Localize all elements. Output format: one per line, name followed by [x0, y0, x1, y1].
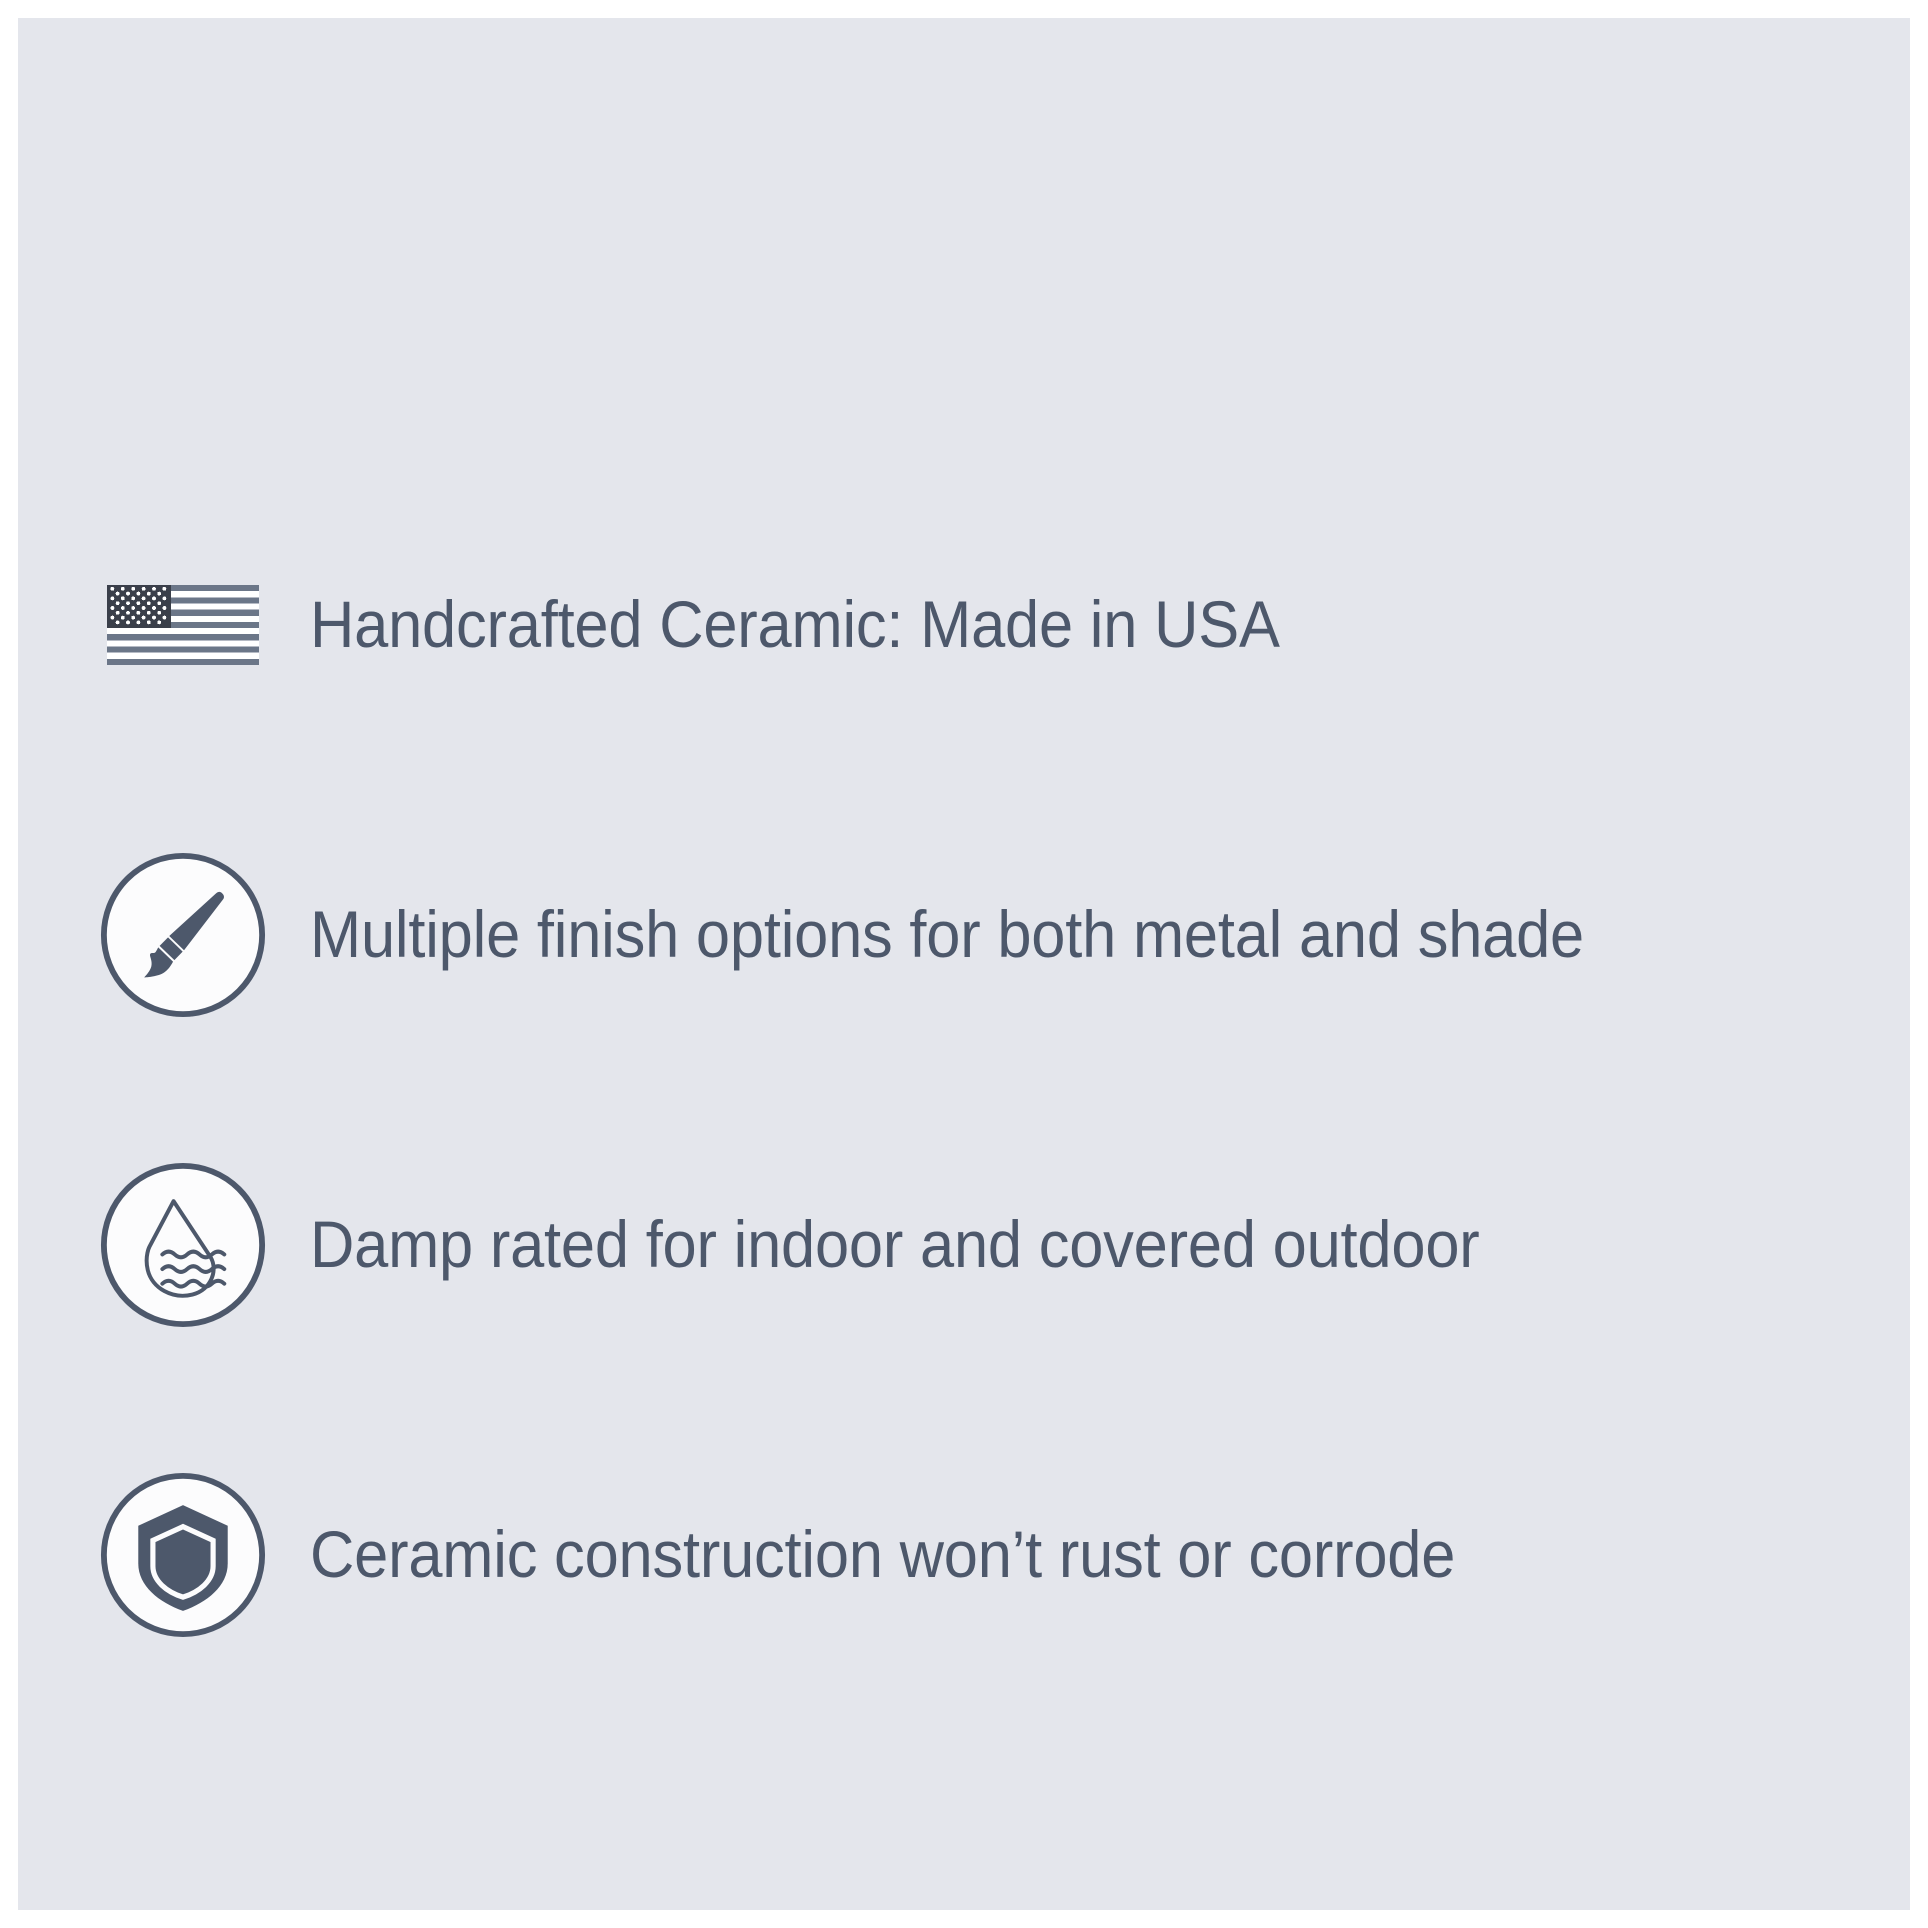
feature-row-finish-options: Multiple finish options for both metal a… [88, 780, 1868, 1090]
feature-label: Handcrafted Ceramic: Made in USA [310, 589, 1280, 660]
usa-flag-icon [107, 585, 259, 665]
shield-icon [97, 1469, 269, 1641]
feature-row-damp-rated: Damp rated for indoor and covered outdoo… [88, 1090, 1868, 1400]
feature-label: Ceramic construction won’t rust or corro… [310, 1519, 1455, 1590]
feature-label: Damp rated for indoor and covered outdoo… [310, 1209, 1480, 1280]
icon-slot [88, 840, 278, 1030]
feature-row-made-in-usa: Handcrafted Ceramic: Made in USA [88, 470, 1868, 780]
paintbrush-icon [97, 849, 269, 1021]
feature-label: Multiple finish options for both metal a… [310, 899, 1584, 970]
icon-slot [88, 1460, 278, 1650]
feature-list: Handcrafted Ceramic: Made in USA Mu [88, 470, 1868, 1710]
feature-panel: Handcrafted Ceramic: Made in USA Mu [18, 18, 1910, 1910]
feature-row-ceramic-construction: Ceramic construction won’t rust or corro… [88, 1400, 1868, 1710]
icon-slot [88, 530, 278, 720]
icon-slot [88, 1150, 278, 1340]
water-droplet-waves-icon [97, 1159, 269, 1331]
